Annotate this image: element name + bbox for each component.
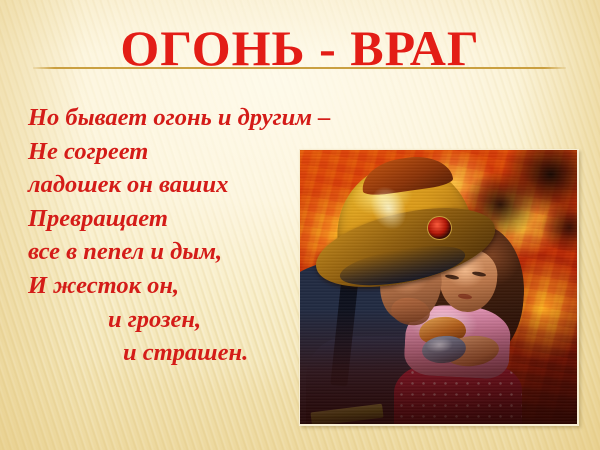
- photo-frame: [299, 149, 579, 426]
- poem-line: и грозен,: [28, 303, 328, 337]
- poem-text-block: Но бывает огонь и другим – Не согреет ла…: [28, 101, 328, 370]
- poem-line: Но бывает огонь и другим –: [28, 101, 328, 135]
- poem-line: Не согреет: [28, 135, 328, 169]
- slide-title: ОГОНЬ - ВРАГ: [0, 18, 600, 78]
- poem-line: И жесток он,: [28, 269, 328, 303]
- poem-line: Превращает: [28, 202, 328, 236]
- poem-line: ладошек он ваших: [28, 168, 328, 202]
- slide: ОГОНЬ - ВРАГ Но бывает огонь и другим – …: [0, 0, 600, 450]
- poem-line: и страшен.: [28, 336, 328, 370]
- poem-line: все в пепел и дым,: [28, 235, 328, 269]
- photo-bottom-shadow: [300, 309, 577, 424]
- firefighter-rescue-photo: [300, 150, 577, 424]
